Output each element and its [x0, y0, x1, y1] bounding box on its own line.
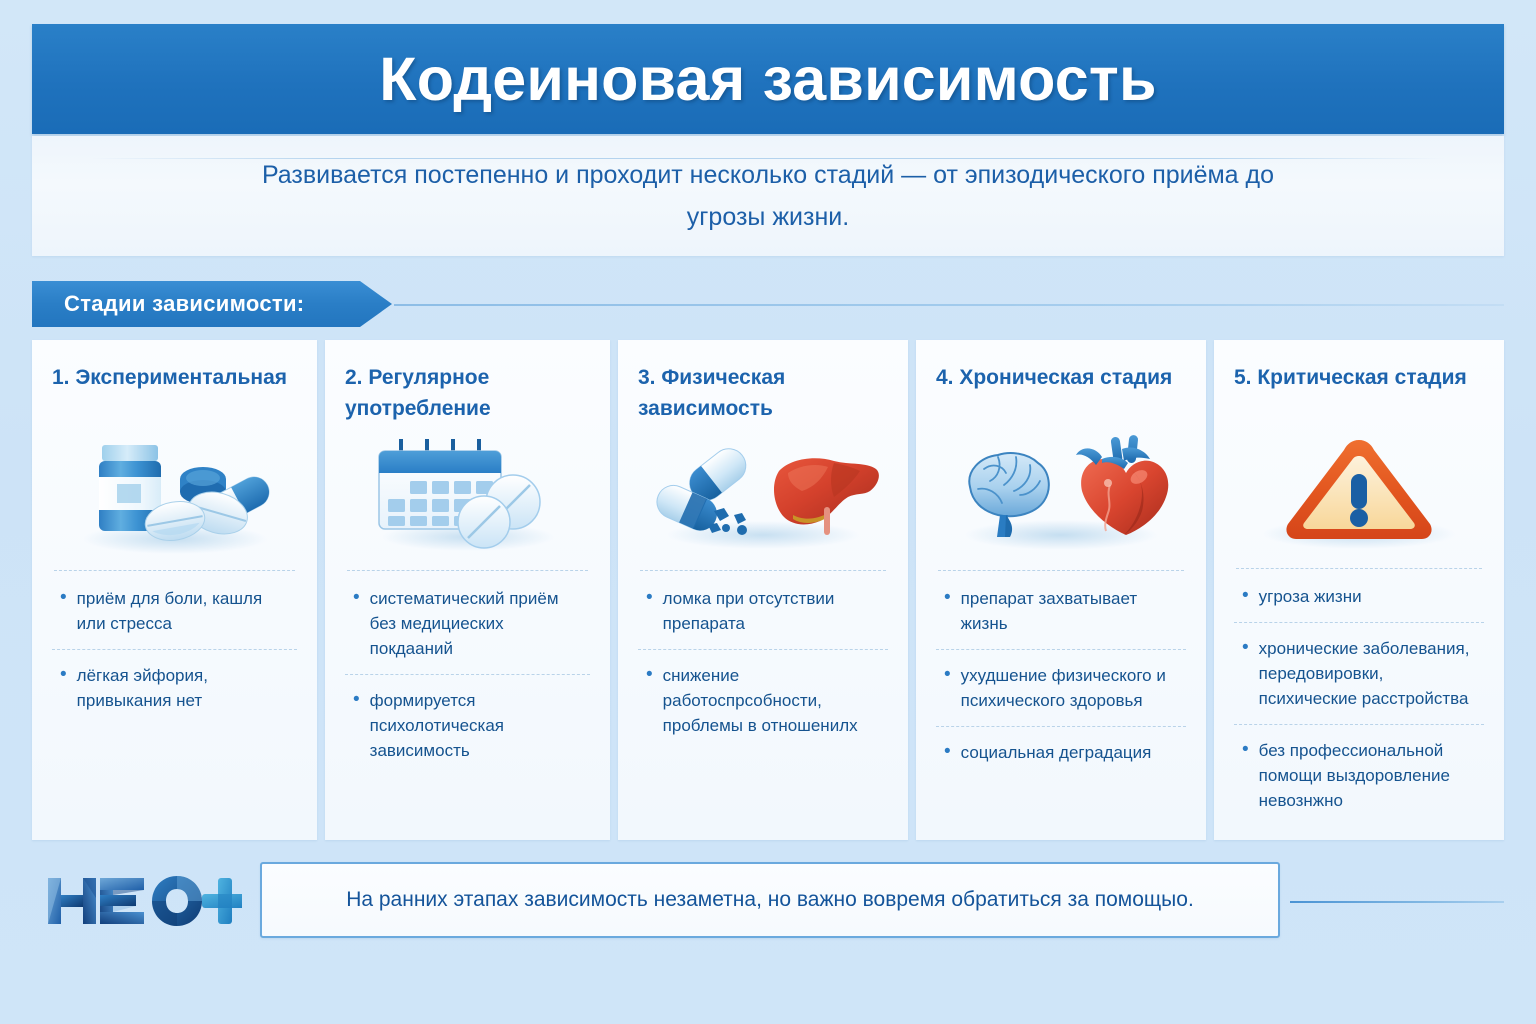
page-title: Кодеиновая зависимость: [379, 44, 1156, 114]
bullet-text: без профессиональной помощи выздоровлени…: [1259, 738, 1482, 813]
bullet-item: • снижение работоспрсобности, проблемы в…: [638, 649, 888, 751]
bullet-dot-icon: •: [944, 586, 951, 609]
stages-banner: Стадии зависимости:: [32, 281, 392, 327]
stage-card-bullets: • систематический приём без медициеских …: [345, 573, 590, 776]
subtitle-text: Развивается постепенно и проходит нескол…: [243, 154, 1293, 238]
bullet-dot-icon: •: [944, 740, 951, 763]
stage-card-1[interactable]: 1. Экспериментальная: [32, 340, 317, 840]
bullet-text: ухудшение физического и психического здо…: [961, 663, 1184, 713]
stages-banner-label: Стадии зависимости:: [64, 291, 304, 317]
bullet-dot-icon: •: [60, 586, 67, 609]
bullet-item: • приём для боли, кашля или стресса: [52, 573, 297, 649]
stage-card-bullets: • приём для боли, кашля или стресса • лё…: [52, 573, 297, 726]
bullet-dot-icon: •: [60, 663, 67, 686]
neo-plus-logo: [42, 870, 242, 932]
footer-note-text: На ранних этапах зависимость незаметна, …: [322, 888, 1218, 912]
bullet-dot-icon: •: [646, 663, 653, 686]
warning-triangle-illustration: [1234, 428, 1484, 558]
stage-card-bullets: • ломка при отсутствии препарата • сниже…: [638, 573, 888, 751]
bullet-dot-icon: •: [1242, 584, 1249, 607]
calendar-and-tablets-illustration: [345, 428, 590, 560]
stage-card-4[interactable]: 4. Хроническая стадия: [916, 340, 1206, 840]
bullet-dot-icon: •: [1242, 636, 1249, 659]
bullet-item: • систематический приём без медициеских …: [345, 573, 590, 674]
brain-and-heart-illustration: [936, 428, 1186, 560]
bullet-dot-icon: •: [944, 663, 951, 686]
stages-banner-rule: [394, 304, 1504, 306]
open-capsule-and-liver-illustration: [638, 428, 888, 560]
bullet-text: хронические заболевания, передовировки, …: [1259, 636, 1482, 711]
bullet-item: • хронические заболевания, передовировки…: [1234, 622, 1484, 724]
subtitle-panel: Развивается постепенно и проходит нескол…: [32, 136, 1504, 256]
bullet-item: • ухудшение физического и психического з…: [936, 649, 1186, 726]
stage-card-title: 3. Физическая зависимость: [638, 362, 888, 428]
bullet-text: угроза жизни: [1259, 584, 1362, 609]
card-divider: [938, 570, 1184, 571]
card-divider: [347, 570, 588, 571]
bullet-item: • ломка при отсутствии препарата: [638, 573, 888, 649]
bullet-item: • лёгкая эйфория, привыкания нет: [52, 649, 297, 726]
stage-card-3[interactable]: 3. Физическая зависимость: [618, 340, 908, 840]
stage-card-title: 5. Критическая стадия: [1234, 362, 1484, 428]
stage-card-title: 4. Хроническая стадия: [936, 362, 1186, 428]
bullet-text: социальная деградация: [961, 740, 1152, 765]
bullet-item: • социальная деградация: [936, 726, 1186, 778]
bullet-item: • угроза жизни: [1234, 571, 1484, 622]
bullet-text: ломка при отсутствии препарата: [663, 586, 886, 636]
bullet-item: • препарат захватывает жизнь: [936, 573, 1186, 649]
bullet-text: препарат захватывает жизнь: [961, 586, 1184, 636]
bullet-dot-icon: •: [353, 688, 360, 711]
bullet-text: систематический приём без медициеских по…: [370, 586, 588, 661]
bullet-item: • без профессиональной помощи выздоровле…: [1234, 724, 1484, 826]
stage-card-title: 2. Регулярное употребление: [345, 362, 590, 428]
footer-note-box: На ранних этапах зависимость незаметна, …: [260, 862, 1280, 938]
card-divider: [54, 570, 295, 571]
stage-card-2[interactable]: 2. Регулярное употребление: [325, 340, 610, 840]
stage-cards-row: 1. Экспериментальная: [32, 340, 1504, 840]
stage-card-title: 1. Экспериментальная: [52, 362, 297, 428]
stage-card-bullets: • угроза жизни • хронические заболевания…: [1234, 571, 1484, 826]
bullet-text: лёгкая эйфория, привыкания нет: [77, 663, 295, 713]
bullet-item: • формируется психолотическая зависимост…: [345, 674, 590, 776]
pill-bottle-and-tablets-illustration: [52, 428, 297, 560]
bullet-dot-icon: •: [646, 586, 653, 609]
footer-decorative-rule: [1290, 901, 1504, 903]
stages-banner-section: Стадии зависимости:: [32, 281, 1504, 327]
footer: На ранних этапах зависимость незаметна, …: [32, 856, 1504, 952]
bullet-dot-icon: •: [1242, 738, 1249, 761]
stage-card-bullets: • препарат захватывает жизнь • ухудшение…: [936, 573, 1186, 778]
bullet-text: приём для боли, кашля или стресса: [77, 586, 295, 636]
page-header-bar: Кодеиновая зависимость: [32, 24, 1504, 134]
bullet-text: формируется психолотическая зависимость: [370, 688, 588, 763]
card-divider: [1236, 568, 1482, 569]
card-divider: [640, 570, 886, 571]
bullet-text: снижение работоспрсобности, проблемы в о…: [663, 663, 886, 738]
bullet-dot-icon: •: [353, 586, 360, 609]
stage-card-5[interactable]: 5. Критическая стадия: [1214, 340, 1504, 840]
